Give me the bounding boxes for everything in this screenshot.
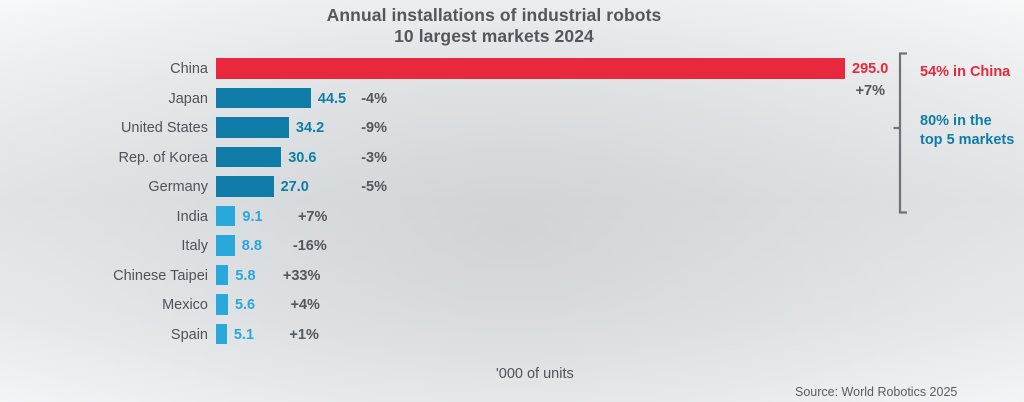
plot-area: China295.0Japan44.5-4%United States34.2-… xyxy=(0,0,1024,402)
bar xyxy=(216,176,274,197)
bar-growth-label: +1% xyxy=(259,325,319,346)
bar-row: Germany27.0-5% xyxy=(0,173,1024,203)
bar-row: Mexico5.6+4% xyxy=(0,291,1024,321)
category-label: United States xyxy=(40,118,208,139)
annotation-top5-line-2: top 5 markets xyxy=(920,131,1014,150)
bar xyxy=(216,235,235,256)
category-label: Mexico xyxy=(40,295,208,316)
category-label: India xyxy=(40,207,208,228)
bar xyxy=(216,294,228,315)
bar-growth-label: -9% xyxy=(327,118,387,139)
bar-row: United States34.2-9% xyxy=(0,114,1024,144)
bar-row: China295.0 xyxy=(0,55,1024,85)
axis-units-label: '000 of units xyxy=(496,365,574,384)
top5-bracket-icon xyxy=(893,52,915,214)
bar-value-label: 5.1 xyxy=(234,325,254,346)
bar xyxy=(216,117,289,138)
bar-row: India9.1+7% xyxy=(0,203,1024,233)
category-label: Italy xyxy=(40,236,208,257)
bar xyxy=(216,324,227,345)
annotation-top5-line-1: 80% in the xyxy=(920,112,1014,131)
bar-value-label: 5.8 xyxy=(235,266,255,287)
bar-value-label: 30.6 xyxy=(288,148,316,169)
bar-row: Spain5.1+1% xyxy=(0,321,1024,351)
bar-growth-label: +4% xyxy=(260,295,320,316)
bar-growth-label: -4% xyxy=(327,89,387,110)
bar-row: Chinese Taipei5.8+33% xyxy=(0,262,1024,292)
category-label: Spain xyxy=(40,325,208,346)
bar-growth-label: -5% xyxy=(327,177,387,198)
bar xyxy=(216,147,281,168)
bar xyxy=(216,88,311,109)
chart-container: Annual installations of industrial robot… xyxy=(0,0,1024,402)
bar-value-label: 5.6 xyxy=(235,295,255,316)
bar-row: Italy8.8-16% xyxy=(0,232,1024,262)
annotation-top5-share: 80% in the top 5 markets xyxy=(920,112,1014,150)
category-label: Chinese Taipei xyxy=(40,266,208,287)
bar xyxy=(216,265,228,286)
category-label: Rep. of Korea xyxy=(40,148,208,169)
bar-value-label: 27.0 xyxy=(281,177,309,198)
category-label: Japan xyxy=(40,89,208,110)
bar-value-label: 295.0 xyxy=(852,59,888,80)
annotation-china-share: 54% in China xyxy=(920,63,1010,82)
bar-value-label: 34.2 xyxy=(296,118,324,139)
bar-value-label: 8.8 xyxy=(242,236,262,257)
china-growth-label: +7% xyxy=(790,82,885,101)
bar-row: Rep. of Korea30.6-3% xyxy=(0,144,1024,174)
bar xyxy=(216,58,845,79)
category-label: Germany xyxy=(40,177,208,198)
bar-value-label: 9.1 xyxy=(242,207,262,228)
bar-growth-label: +33% xyxy=(260,266,320,287)
bar-growth-label: -3% xyxy=(327,148,387,169)
source-label: Source: World Robotics 2025 xyxy=(795,384,957,401)
bar-growth-label: -16% xyxy=(267,236,327,257)
bar-growth-label: +7% xyxy=(267,207,327,228)
bar xyxy=(216,206,235,227)
category-label: China xyxy=(40,59,208,80)
